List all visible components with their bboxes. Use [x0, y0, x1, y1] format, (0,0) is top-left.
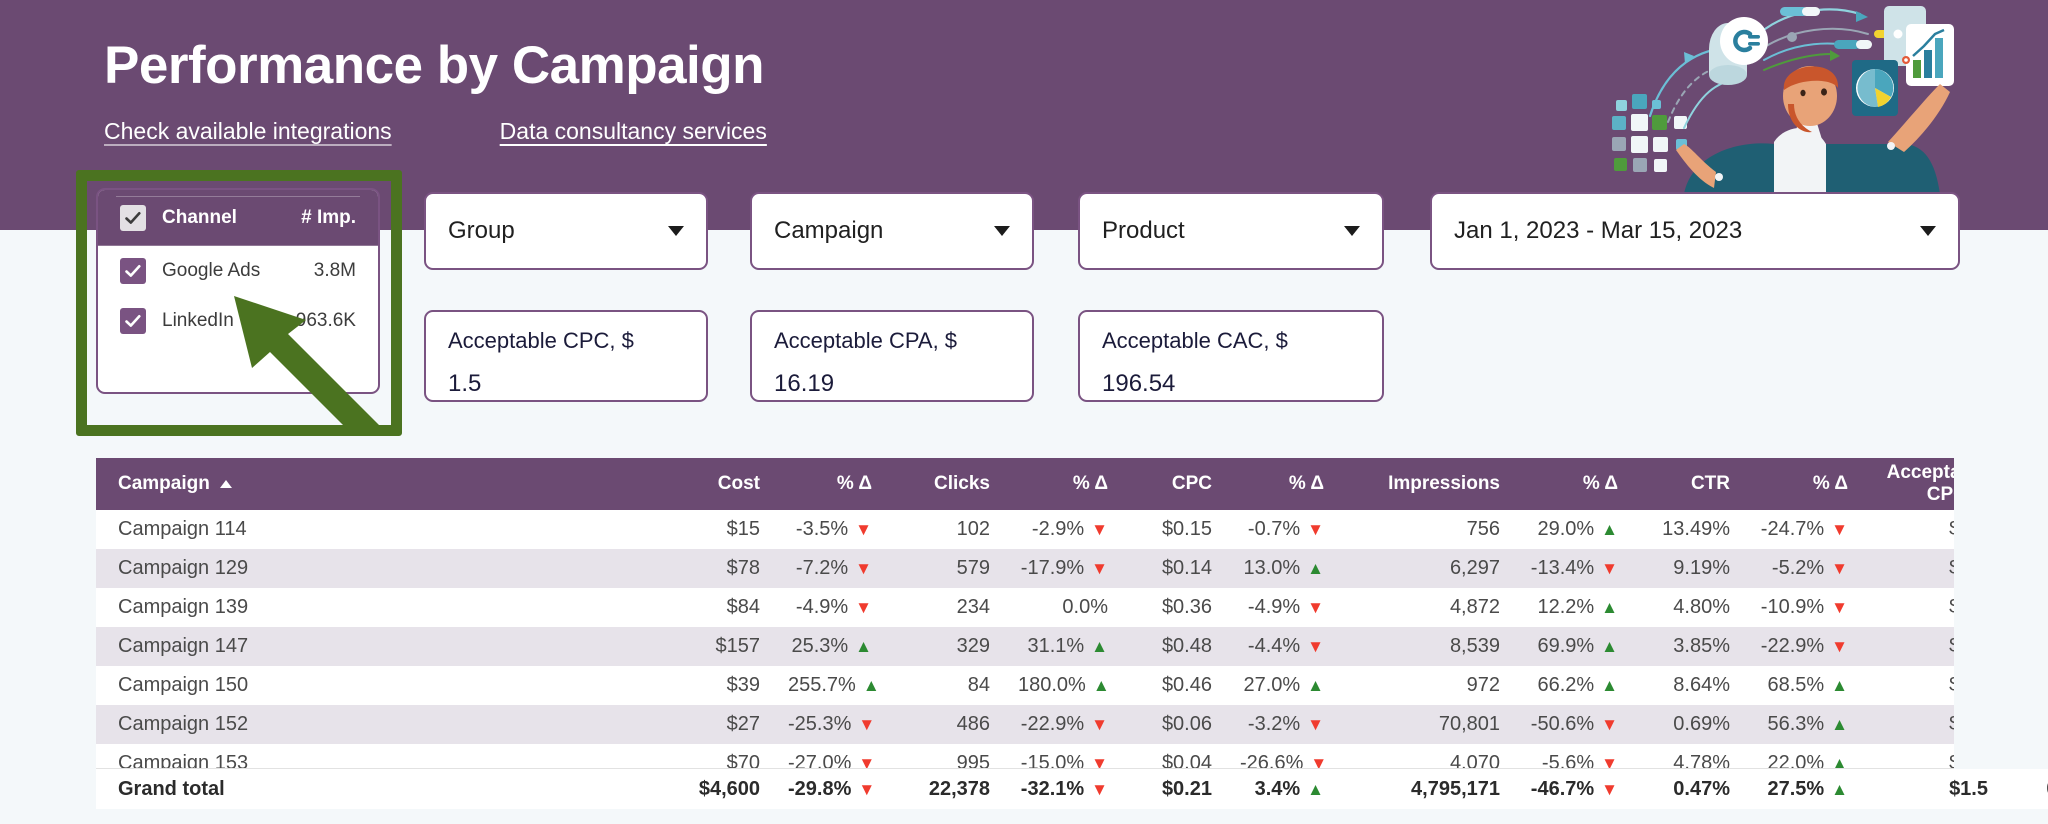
table-row[interactable]: Campaign 150$39255.7%▲84180.0%▲$0.4627.0… — [96, 666, 1954, 705]
select-all-checkbox[interactable] — [120, 205, 146, 231]
cell-cost: $39 — [656, 666, 774, 705]
acceptable-cpa-input[interactable]: Acceptable CPA, $ 16.19 — [750, 310, 1034, 402]
cell-acceptable-cpc: $1.5 — [1862, 549, 1954, 588]
trend-up-icon: ▲ — [1093, 677, 1110, 694]
group-dropdown[interactable]: Group — [424, 192, 708, 270]
cell-clicks-delta: 31.1%▲ — [1004, 627, 1122, 666]
cell-campaign: Grand total — [96, 769, 656, 809]
cell-impressions: 4,872 — [1338, 588, 1514, 627]
cell-cpc-delta: -0.7%▼ — [1226, 510, 1338, 549]
cell-impressions-delta: -46.7%▼ — [1514, 769, 1632, 809]
cell-impressions-delta: 29.0%▲ — [1514, 510, 1632, 549]
cell-acceptable-cpc: $1.5 — [1862, 588, 1954, 627]
col-header-ctr-delta[interactable]: % Δ — [1744, 458, 1862, 510]
col-header-cpc[interactable]: CPC — [1122, 458, 1226, 510]
trend-up-icon: ▲ — [1307, 781, 1324, 798]
cell-ctr: 8.64% — [1632, 666, 1744, 705]
trend-down-icon: ▼ — [1307, 716, 1324, 733]
data-illustration — [1588, 0, 2008, 194]
cell-ctr: 0.69% — [1632, 705, 1744, 744]
cell-campaign: Campaign 150 — [96, 666, 656, 705]
trend-up-icon: ▲ — [1601, 638, 1618, 655]
trend-down-icon: ▼ — [1307, 599, 1324, 616]
cell-ctr: 0.47% — [1632, 769, 1744, 809]
cell-clicks: 486 — [886, 705, 1004, 744]
table-row[interactable]: Grand total$4,600-29.8%▼22,378-32.1%▼$0.… — [96, 769, 2048, 809]
cell-cpc: $0.46 — [1122, 666, 1226, 705]
cell-cpc-delta: -4.4%▼ — [1226, 627, 1338, 666]
cell-cost: $4,600 — [656, 769, 774, 809]
linkedin-checkbox[interactable] — [120, 308, 146, 334]
cell-cost-delta: -3.5%▼ — [774, 510, 886, 549]
linkedin-impressions: 963.6K — [296, 310, 378, 332]
cell-clicks-delta: -32.1%▼ — [1004, 769, 1122, 809]
cell-clicks-delta: -22.9%▼ — [1004, 705, 1122, 744]
product-dropdown-label: Product — [1102, 217, 1344, 245]
trend-up-icon: ▲ — [1831, 781, 1848, 798]
cell-ctr-delta: -22.9%▼ — [1744, 627, 1862, 666]
cell-acceptable-cpc: $1.5 — [1862, 769, 2002, 809]
header-links: Check available integrations Data consul… — [104, 118, 767, 145]
trend-down-icon: ▼ — [1307, 521, 1324, 538]
date-range-label: Jan 1, 2023 - Mar 15, 2023 — [1454, 217, 1920, 245]
cell-cpc-delta: -4.9%▼ — [1226, 588, 1338, 627]
chevron-down-icon — [668, 226, 684, 236]
cell-acceptable-cpc: $1.5 — [1862, 666, 1954, 705]
cell-clicks: 22,378 — [886, 769, 1004, 809]
trend-down-icon: ▼ — [1831, 521, 1848, 538]
cell-clicks-delta: -2.9%▼ — [1004, 510, 1122, 549]
cell-cpc-delta: 27.0%▲ — [1226, 666, 1338, 705]
cell-cpc: $0.14 — [1122, 549, 1226, 588]
trend-down-icon: ▼ — [855, 599, 872, 616]
cell-clicks: 579 — [886, 549, 1004, 588]
cell-ctr: 4.80% — [1632, 588, 1744, 627]
trend-up-icon: ▲ — [1831, 716, 1848, 733]
cell-cpc: $0.15 — [1122, 510, 1226, 549]
acceptable-cpc-value[interactable]: 1.5 — [448, 370, 684, 398]
cell-impressions: 4,795,171 — [1338, 769, 1514, 809]
cell-cost-delta: 25.3%▲ — [774, 627, 886, 666]
check-integrations-link[interactable]: Check available integrations — [104, 118, 392, 145]
dashboard-page: Performance by Campaign Check available … — [0, 0, 2048, 824]
col-header-campaign[interactable]: Campaign — [96, 458, 656, 510]
data-consultancy-link[interactable]: Data consultancy services — [500, 118, 767, 145]
cell-impressions: 6,297 — [1338, 549, 1514, 588]
campaign-dropdown[interactable]: Campaign — [750, 192, 1034, 270]
cell-clicks: 84 — [886, 666, 1004, 705]
trend-down-icon: ▼ — [1601, 781, 1618, 798]
acceptable-cpc-label: Acceptable CPC, $ — [448, 328, 684, 354]
sort-ascending-icon — [220, 480, 232, 488]
table-header-row: Campaign Cost % Δ Clicks % Δ CPC % Δ Imp… — [96, 458, 1954, 510]
cell-ctr-delta: -24.7%▼ — [1744, 510, 1862, 549]
trend-down-icon: ▼ — [858, 716, 875, 733]
trend-up-icon: ▲ — [1307, 677, 1324, 694]
col-header-cpc-delta[interactable]: % Δ — [1226, 458, 1338, 510]
cell-cost-delta: 255.7%▲ — [774, 666, 886, 705]
trend-up-icon: ▲ — [855, 638, 872, 655]
product-dropdown[interactable]: Product — [1078, 192, 1384, 270]
google-ads-checkbox[interactable] — [120, 258, 146, 284]
cell-campaign: Campaign 114 — [96, 510, 656, 549]
trend-up-icon: ▲ — [1601, 521, 1618, 538]
cell-cpc: $0.21 — [1122, 769, 1226, 809]
cell-cost-delta: -4.9%▼ — [774, 588, 886, 627]
acceptable-cpa-label: Acceptable CPA, $ — [774, 328, 1010, 354]
col-header-campaign-label: Campaign — [118, 473, 210, 494]
acceptable-cac-input[interactable]: Acceptable CAC, $ 196.54 — [1078, 310, 1384, 402]
cell-cost: $157 — [656, 627, 774, 666]
cell-ctr-delta: 56.3%▲ — [1744, 705, 1862, 744]
cell-clicks-delta: 180.0%▲ — [1004, 666, 1122, 705]
date-range-picker[interactable]: Jan 1, 2023 - Mar 15, 2023 — [1430, 192, 1960, 270]
cell-cost-delta: -7.2%▼ — [774, 549, 886, 588]
trend-down-icon: ▼ — [1831, 599, 1848, 616]
cell-clicks: 329 — [886, 627, 1004, 666]
cell-ctr: 3.85% — [1632, 627, 1744, 666]
cell-impressions-delta: 12.2%▲ — [1514, 588, 1632, 627]
cell-impressions-delta: -50.6%▼ — [1514, 705, 1632, 744]
google-ads-label: Google Ads — [146, 260, 314, 282]
group-dropdown-label: Group — [448, 217, 668, 245]
chevron-down-icon — [994, 226, 1010, 236]
col-header-cost[interactable]: Cost — [656, 458, 774, 510]
trend-up-icon: ▲ — [1601, 677, 1618, 694]
channel-filter-card[interactable]: Channel # Imp. Google Ads 3.8M LinkedIn … — [96, 188, 380, 394]
trend-down-icon: ▼ — [855, 560, 872, 577]
cell-campaign: Campaign 139 — [96, 588, 656, 627]
cell-cost: $84 — [656, 588, 774, 627]
google-ads-impressions: 3.8M — [314, 260, 378, 282]
col-header-ctr[interactable]: CTR — [1632, 458, 1744, 510]
cell-campaign: Campaign 129 — [96, 549, 656, 588]
table-row[interactable]: Campaign 139$84-4.9%▼2340.0%$0.36-4.9%▼4… — [96, 588, 1954, 627]
trend-down-icon: ▼ — [1831, 560, 1848, 577]
cell-impressions: 8,539 — [1338, 627, 1514, 666]
cell-cost-delta: -25.3%▼ — [774, 705, 886, 744]
cell-campaign: Campaign 152 — [96, 705, 656, 744]
cell-cost: $15 — [656, 510, 774, 549]
cell-clicks-delta: -17.9%▼ — [1004, 549, 1122, 588]
channel-row-linkedin[interactable]: LinkedIn 963.6K — [98, 296, 378, 346]
trend-up-icon: ▲ — [1307, 560, 1324, 577]
linkedin-label: LinkedIn — [146, 310, 296, 332]
cell-acceptable-cpc: $1.5 — [1862, 627, 1954, 666]
cell-cpc-delta: -3.2%▼ — [1226, 705, 1338, 744]
table-row[interactable]: Campaign 152$27-25.3%▼486-22.9%▼$0.06-3.… — [96, 705, 1954, 744]
cell-ctr-delta: -10.9%▼ — [1744, 588, 1862, 627]
col-header-impressions-delta[interactable]: % Δ — [1514, 458, 1632, 510]
cell-cost: $78 — [656, 549, 774, 588]
cell-ctr: 13.49% — [1632, 510, 1744, 549]
trend-down-icon: ▼ — [855, 521, 872, 538]
table-row[interactable]: Campaign 114$15-3.5%▼102-2.9%▼$0.15-0.7%… — [96, 510, 1954, 549]
trend-up-icon: ▲ — [1601, 599, 1618, 616]
col-header-clicks-delta[interactable]: % Δ — [1004, 458, 1122, 510]
trend-down-icon: ▼ — [1091, 781, 1108, 798]
acceptable-cpc-input[interactable]: Acceptable CPC, $ 1.5 — [424, 310, 708, 402]
trend-down-icon: ▼ — [858, 781, 875, 798]
cell-impressions: 70,801 — [1338, 705, 1514, 744]
impressions-column-header: # Imp. — [301, 207, 378, 229]
cell-ctr: 9.19% — [1632, 549, 1744, 588]
cell-impressions: 756 — [1338, 510, 1514, 549]
trend-down-icon: ▼ — [1091, 521, 1108, 538]
cell-cpc: $0.06 — [1122, 705, 1226, 744]
cell-cpc: $0.36 — [1122, 588, 1226, 627]
channel-row-google-ads[interactable]: Google Ads 3.8M — [98, 246, 378, 296]
col-header-impressions[interactable]: Impressions — [1338, 458, 1514, 510]
cell-clicks-delta: 0.0% — [1004, 588, 1122, 627]
cell-cpc-delta: 3.4%▲ — [1226, 769, 1338, 809]
campaign-dropdown-label: Campaign — [774, 217, 994, 245]
cell-ctr-delta: -5.2%▼ — [1744, 549, 1862, 588]
page-title: Performance by Campaign — [104, 38, 764, 94]
cell-acceptable-cpc: $1.5 — [1862, 705, 1954, 744]
col-header-clicks[interactable]: Clicks — [886, 458, 1004, 510]
table-body: Campaign 114$15-3.5%▼102-2.9%▼$0.15-0.7%… — [96, 510, 1954, 776]
trend-down-icon: ▼ — [1601, 716, 1618, 733]
trend-up-icon: ▲ — [1831, 677, 1848, 694]
cell-cpc: $0.48 — [1122, 627, 1226, 666]
cell-impressions: 972 — [1338, 666, 1514, 705]
campaign-performance-table[interactable]: Campaign Cost % Δ Clicks % Δ CPC % Δ Imp… — [96, 458, 1954, 776]
cell-impressions-delta: 69.9%▲ — [1514, 627, 1632, 666]
cell-campaign: Campaign 147 — [96, 627, 656, 666]
cell-ctr-delta: 27.5%▲ — [1744, 769, 1862, 809]
cell-acceptable-cpc: $1.5 — [1862, 510, 1954, 549]
cell-clicks: 102 — [886, 510, 1004, 549]
acceptable-cac-value[interactable]: 196.54 — [1102, 370, 1360, 398]
cell-cost: $27 — [656, 705, 774, 744]
channel-column-header: Channel — [146, 207, 301, 229]
acceptable-cpa-value[interactable]: 16.19 — [774, 370, 1010, 398]
table-row[interactable]: Campaign 147$15725.3%▲32931.1%▲$0.48-4.4… — [96, 627, 1954, 666]
cell-acceptable-cpc-delta: 0.0% — [2002, 769, 2048, 809]
cell-impressions-delta: 66.2%▲ — [1514, 666, 1632, 705]
trend-up-icon: ▲ — [1091, 638, 1108, 655]
col-header-cost-delta[interactable]: % Δ — [774, 458, 886, 510]
cell-clicks: 234 — [886, 588, 1004, 627]
channel-filter-header-row[interactable]: Channel # Imp. — [98, 190, 378, 246]
cell-impressions-delta: -13.4%▼ — [1514, 549, 1632, 588]
chevron-down-icon — [1344, 226, 1360, 236]
cell-cost-delta: -29.8%▼ — [774, 769, 886, 809]
acceptable-cac-label: Acceptable CAC, $ — [1102, 328, 1360, 354]
col-header-acceptable-cpc[interactable]: Acceptable CPC, $ — [1862, 458, 1954, 510]
table-row[interactable]: Campaign 129$78-7.2%▼579-17.9%▼$0.1413.0… — [96, 549, 1954, 588]
trend-down-icon: ▼ — [1307, 638, 1324, 655]
cell-cpc-delta: 13.0%▲ — [1226, 549, 1338, 588]
trend-down-icon: ▼ — [1091, 716, 1108, 733]
cell-ctr-delta: 68.5%▲ — [1744, 666, 1862, 705]
grand-total-row: Grand total$4,600-29.8%▼22,378-32.1%▼$0.… — [96, 768, 1954, 808]
trend-up-icon: ▲ — [863, 677, 880, 694]
trend-down-icon: ▼ — [1831, 638, 1848, 655]
trend-down-icon: ▼ — [1601, 560, 1618, 577]
trend-down-icon: ▼ — [1091, 560, 1108, 577]
chevron-down-icon — [1920, 226, 1936, 236]
